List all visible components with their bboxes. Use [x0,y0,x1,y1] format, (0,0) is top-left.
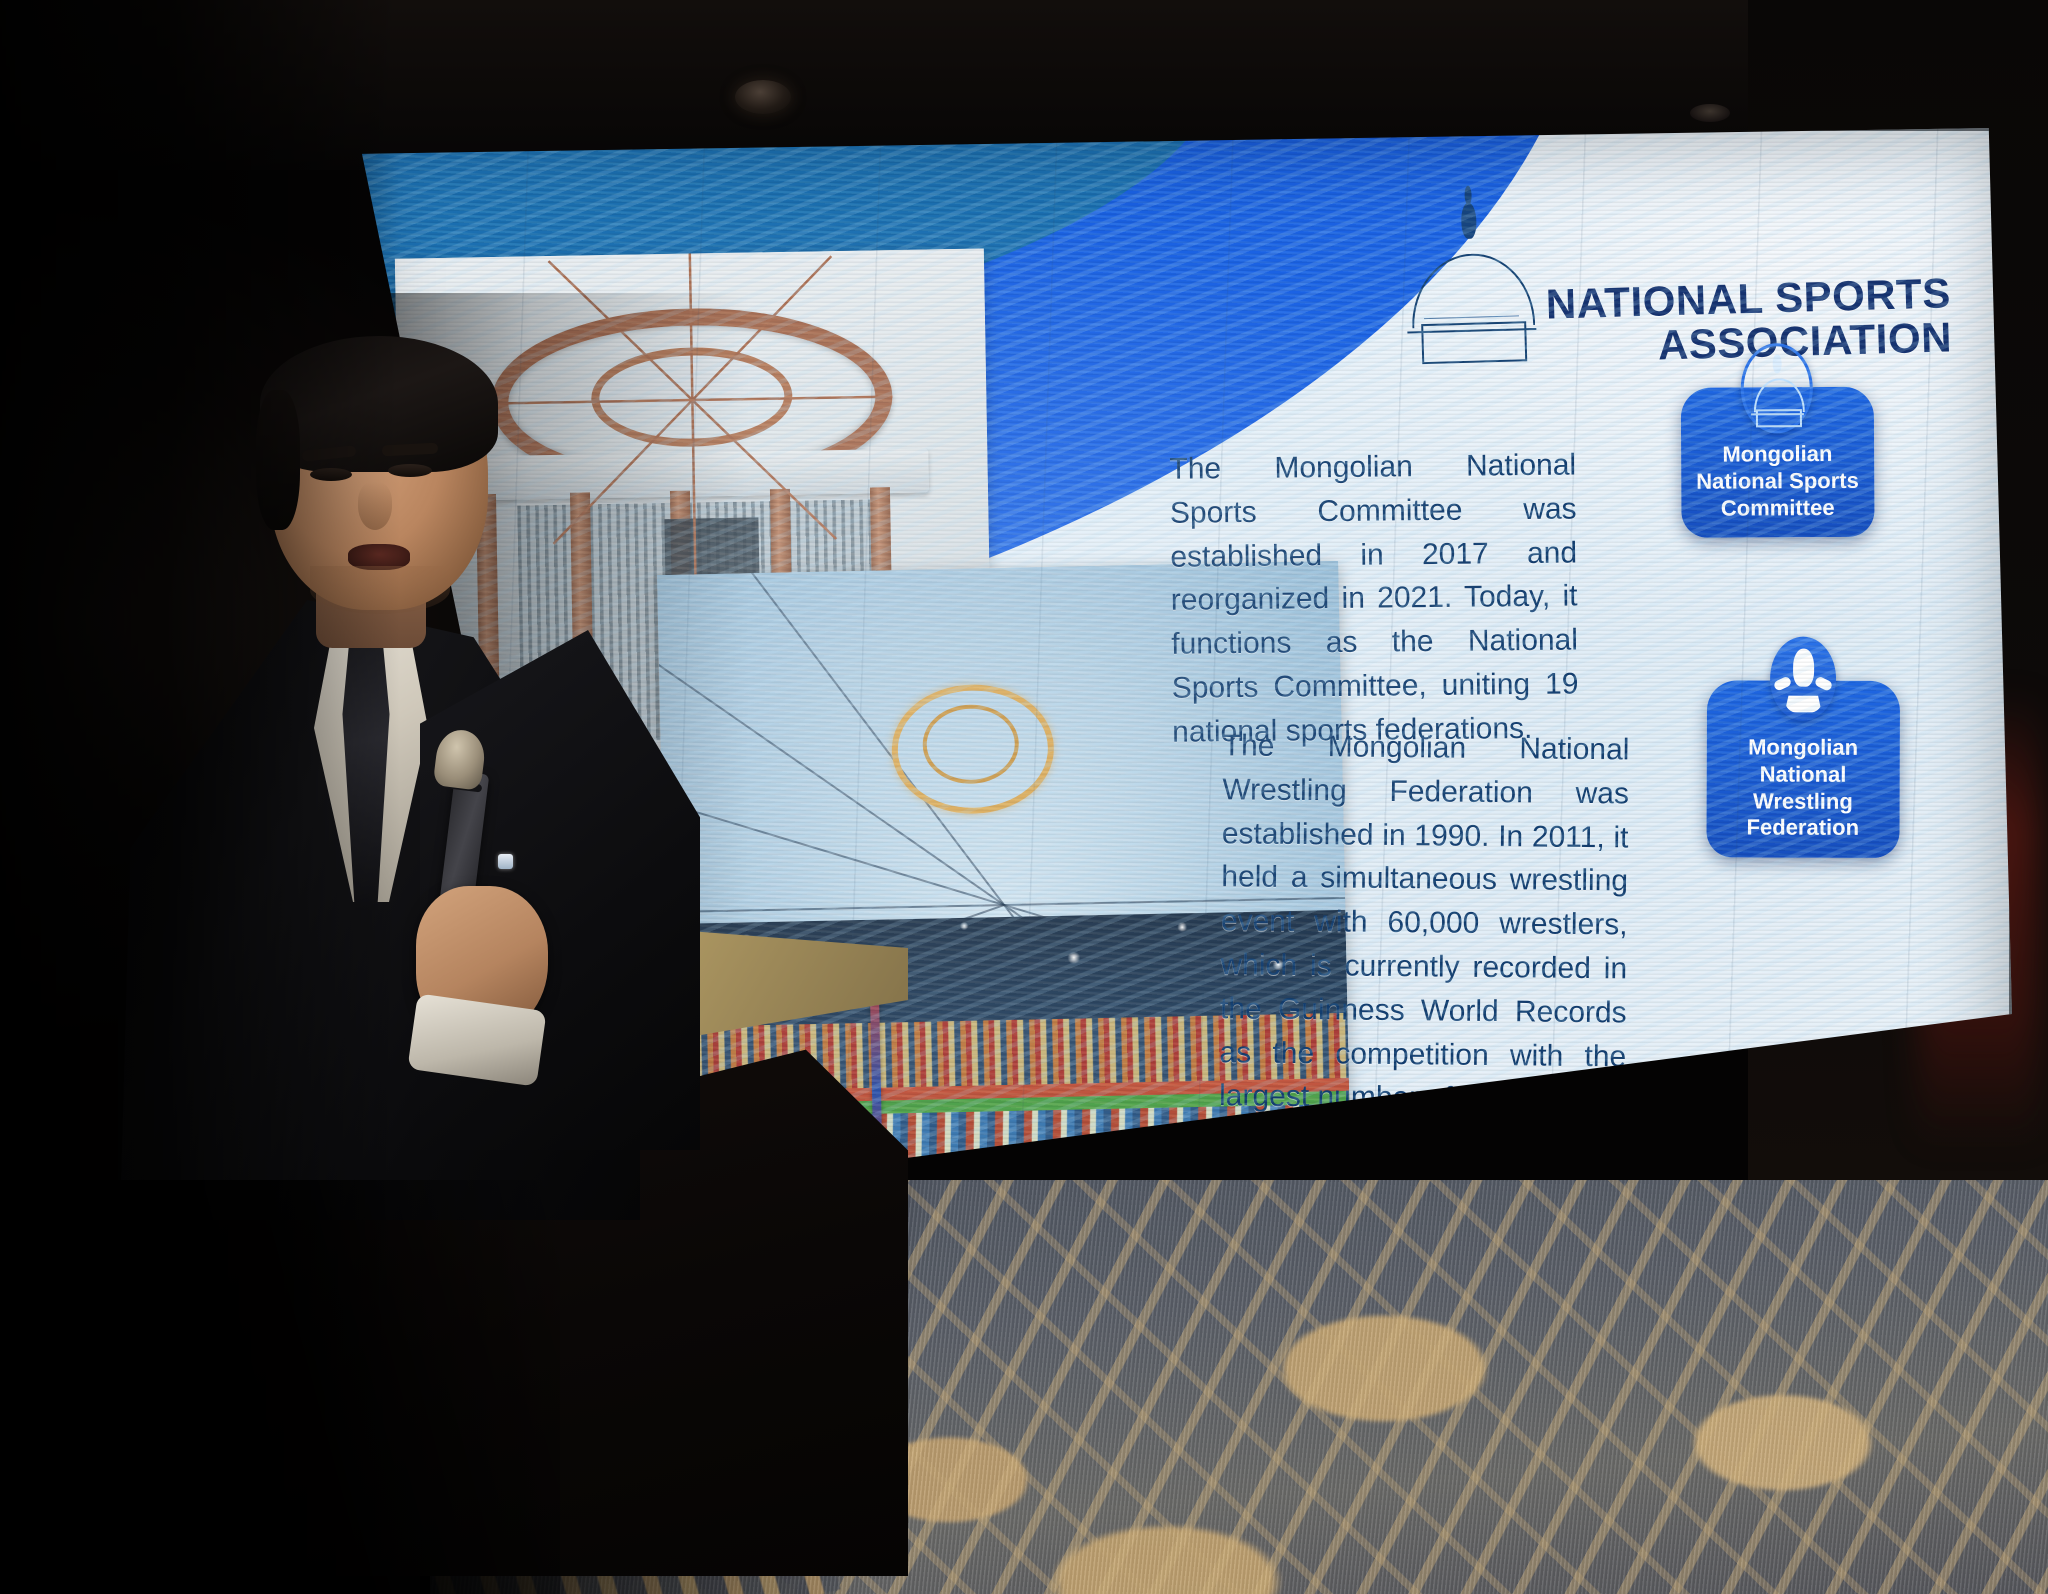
slide-headline: NATIONAL SPORTS ASSOCIATION [1286,271,1952,379]
wrestler-figure-emblem-icon [1770,636,1836,720]
badge-line-3: Committee [1690,495,1867,523]
slide-paragraph-1: The Mongolian National Sports Committee … [1169,444,1579,755]
sports-committee-dome-emblem-icon [1741,343,1813,433]
presenter-eye-left [310,468,352,481]
slide-paragraph-2: The Mongolian National Wrestling Federat… [1219,724,1630,1122]
presenter-chin [310,566,450,614]
badge-line-2: National [1715,761,1892,788]
ceiling-vent-icon [735,80,791,114]
badge-line-2: National Sports [1689,468,1866,496]
badge-mongolian-national-wrestling-federation: Mongolian National Wrestling Federation [1706,680,1899,858]
presenter-nose [358,482,392,530]
badge-mongolian-national-sports-committee: Mongolian National Sports Committee [1681,387,1874,538]
badge-line-1: Mongolian [1689,441,1866,469]
presenter-at-podium [120,330,680,1210]
badge-line-3: Wrestling [1714,788,1891,815]
badge-line-4: Federation [1714,815,1891,842]
presenter-eye-right [388,464,432,477]
presentation-scene: NATIONAL SPORTS ASSOCIATION The Mongolia… [0,0,2048,1594]
badge-line-1: Mongolian [1715,734,1892,761]
presenter-lapel-pin [498,854,513,869]
presenter-hair-side [256,390,300,530]
ceiling-spotlight-icon [1690,104,1730,122]
